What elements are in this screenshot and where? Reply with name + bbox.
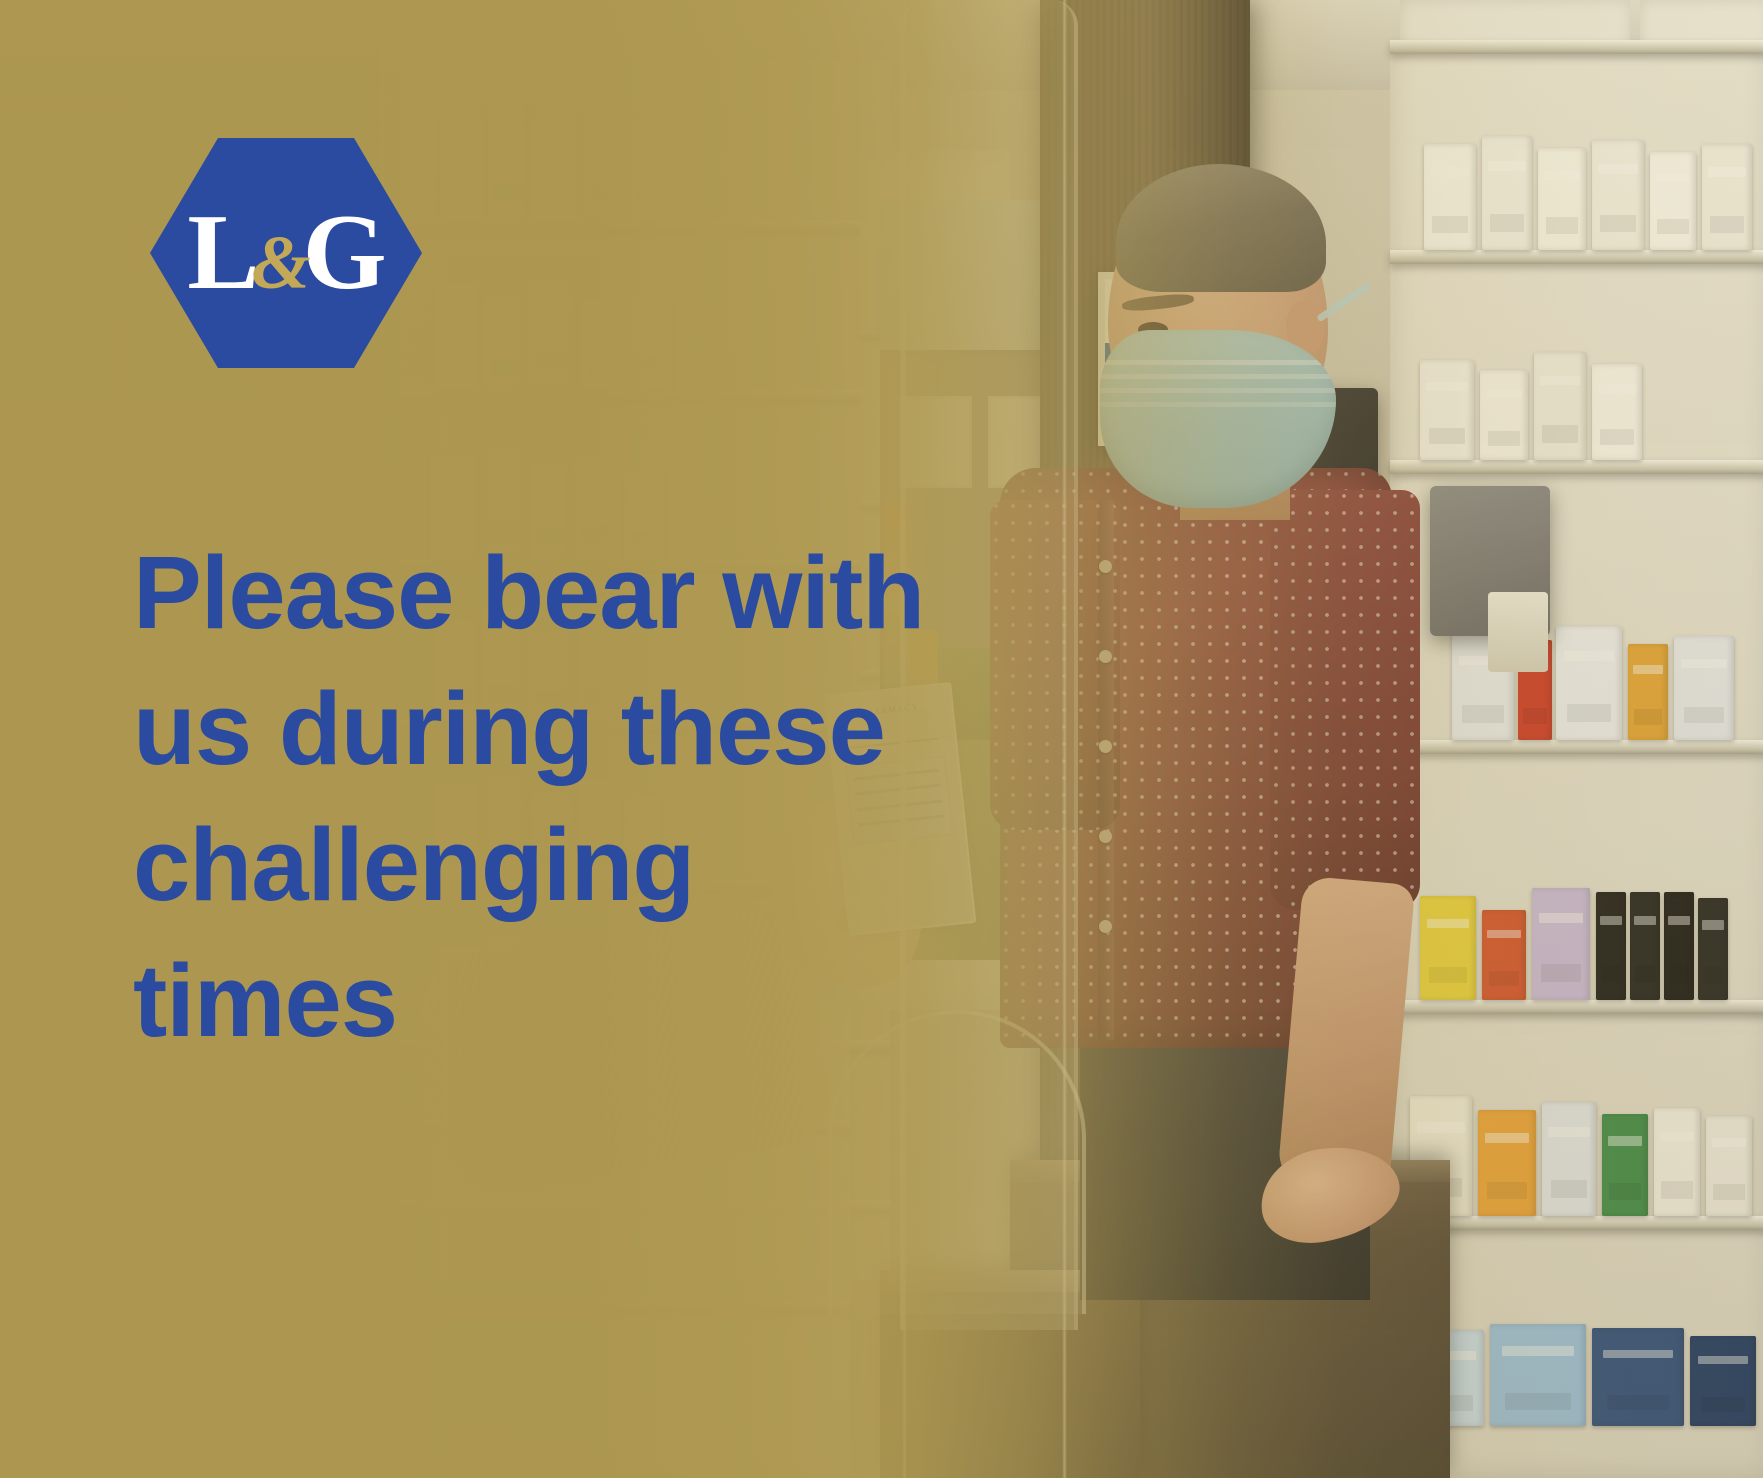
headline-line-2: us during these xyxy=(133,661,963,797)
product-box xyxy=(1542,1102,1596,1216)
headline: Please bear with us during these challen… xyxy=(133,525,963,1069)
product-box xyxy=(1480,370,1528,460)
counter-item xyxy=(1488,592,1548,672)
product-box xyxy=(1592,140,1644,250)
product-box xyxy=(1534,352,1586,460)
product-box xyxy=(1482,910,1526,1000)
product-box-dulcolax xyxy=(1654,1108,1700,1216)
product-box xyxy=(1592,364,1642,460)
product-box xyxy=(628,288,672,390)
product-box-nurofen xyxy=(1556,626,1622,740)
logo-letter-l: L xyxy=(187,199,257,307)
product-box xyxy=(1420,360,1474,460)
product-box-dulcolax xyxy=(1706,1116,1752,1216)
product-box xyxy=(1702,144,1752,250)
product-box xyxy=(630,126,668,220)
product-box xyxy=(1628,644,1668,740)
product-box xyxy=(1538,148,1586,250)
product-box-migraleve xyxy=(1630,892,1660,1000)
shirt-button xyxy=(1099,650,1112,663)
product-box-migraleve xyxy=(1596,892,1626,1000)
shirt-placket xyxy=(1098,500,1114,1040)
shirt-button xyxy=(1099,920,1112,933)
product-box xyxy=(528,274,578,390)
headline-line-4: times xyxy=(133,933,963,1069)
product-box xyxy=(584,110,626,220)
product-box xyxy=(484,296,524,390)
lg-logo: L&G xyxy=(150,138,422,368)
pharmacist-sleeve-right xyxy=(1270,490,1420,910)
product-box xyxy=(1482,136,1532,250)
product-box xyxy=(1650,152,1696,250)
product-box xyxy=(1532,888,1590,1000)
product-box-dulcolax xyxy=(1602,1114,1648,1216)
product-box xyxy=(1478,1110,1536,1216)
logo-letter-g: G xyxy=(303,199,385,307)
product-box xyxy=(488,104,528,220)
headline-line-1: Please bear with xyxy=(133,525,963,661)
product-box xyxy=(1420,896,1476,1000)
product-box xyxy=(676,306,714,390)
product-box-migraleve xyxy=(1698,898,1728,1000)
product-box xyxy=(532,122,580,220)
logo-ampersand: & xyxy=(251,225,308,301)
product-box xyxy=(582,300,624,390)
product-box xyxy=(1592,1328,1684,1426)
social-graphic-canvas: PHARMACY L&G Please bear with us during … xyxy=(0,0,1763,1478)
logo-wordmark: L&G xyxy=(150,138,422,368)
headline-line-3: challenging xyxy=(133,797,963,933)
product-box-migraleve xyxy=(1664,892,1694,1000)
shirt-button xyxy=(1099,830,1112,843)
product-box xyxy=(1424,144,1476,250)
product-box xyxy=(1674,636,1734,740)
shirt-button xyxy=(1099,560,1112,573)
product-box-stugeron xyxy=(1490,1324,1586,1426)
perspex-edge xyxy=(1062,0,1067,1478)
shirt-button xyxy=(1099,740,1112,753)
product-box xyxy=(1690,1336,1756,1426)
